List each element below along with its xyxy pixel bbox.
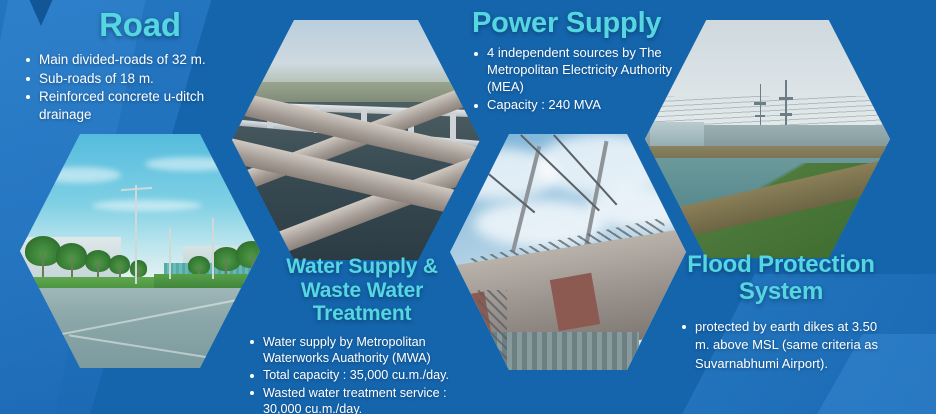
cloud xyxy=(92,200,202,212)
water-supply-bullet-3: Wasted water treatment service : 30,000 … xyxy=(248,385,476,414)
photo-layer xyxy=(20,134,260,368)
section-flood-protection: Flood Protection System protected by ear… xyxy=(672,252,890,374)
utility-pole xyxy=(169,228,171,279)
reservoir-flood-basin-photo xyxy=(645,20,890,258)
sky-layer xyxy=(232,20,480,92)
power-substation-photo xyxy=(450,134,686,370)
utility-pole xyxy=(212,218,214,279)
flood-protection-bullet-1: protected by earth dikes at 3.50 m. abov… xyxy=(680,318,890,373)
section-power-supply: Power Supply 4 independent sources by Th… xyxy=(472,8,672,115)
section-road: Road Main divided-roads of 32 m. Sub-roa… xyxy=(24,8,256,125)
flood-protection-heading-line-1: Flood Protection xyxy=(672,252,890,279)
water-supply-bullet-1: Water supply by Metropolitan Waterworks … xyxy=(248,334,476,367)
power-supply-bullet-2: Capacity : 240 MVA xyxy=(472,97,672,114)
photo-layer xyxy=(450,134,686,370)
water-supply-bullet-list: Water supply by Metropolitan Waterworks … xyxy=(248,334,476,414)
water-supply-heading: Water Supply & Waste Water Treatment xyxy=(248,255,476,326)
photo-layer xyxy=(232,20,480,260)
road-heading: Road xyxy=(24,8,256,42)
water-supply-bullet-2: Total capacity : 35,000 cu.m./day. xyxy=(248,367,476,383)
road-bullet-3: Reinforced concrete u-ditch drainage xyxy=(24,88,256,123)
infographic-canvas: Road Main divided-roads of 32 m. Sub-roa… xyxy=(0,0,936,414)
water-supply-heading-line-2: Waste Water xyxy=(248,279,476,303)
road-bullet-2: Sub-roads of 18 m. xyxy=(24,70,256,88)
photo-layer xyxy=(645,20,890,258)
louvre-facade xyxy=(492,332,638,370)
water-supply-heading-line-3: Treatment xyxy=(248,302,476,326)
street-light-pole xyxy=(135,185,137,283)
power-supply-heading: Power Supply xyxy=(472,8,672,38)
flood-protection-heading: Flood Protection System xyxy=(672,252,890,306)
road-photo xyxy=(20,134,260,368)
panel xyxy=(550,272,601,330)
cloud xyxy=(39,167,121,183)
road-bullet-1: Main divided-roads of 32 m. xyxy=(24,51,256,69)
section-water-supply: Water Supply & Waste Water Treatment Wat… xyxy=(248,255,476,414)
water-supply-heading-line-1: Water Supply & xyxy=(248,255,476,279)
flood-protection-bullet-list: protected by earth dikes at 3.50 m. abov… xyxy=(680,318,890,373)
water-treatment-ponds-photo xyxy=(232,20,480,260)
power-supply-bullet-list: 4 independent sources by The Metropolita… xyxy=(472,45,672,114)
power-supply-bullet-1: 4 independent sources by The Metropolita… xyxy=(472,45,672,96)
road-bullet-list: Main divided-roads of 32 m. Sub-roads of… xyxy=(24,51,256,123)
lattice-support xyxy=(478,290,506,361)
flood-protection-heading-line-2: System xyxy=(672,279,890,306)
